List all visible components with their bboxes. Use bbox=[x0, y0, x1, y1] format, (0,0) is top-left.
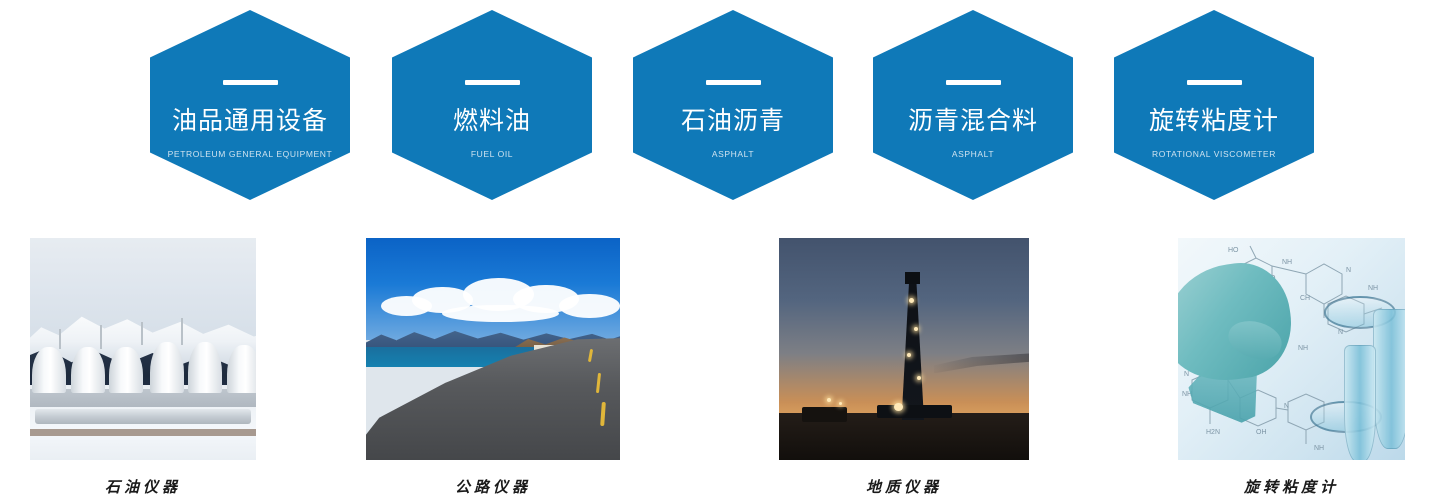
hex-title-en: ASPHALT bbox=[952, 149, 994, 159]
cloud bbox=[442, 305, 559, 323]
svg-text:OH: OH bbox=[1256, 429, 1267, 436]
hex-tile-petroleum-general-equipment[interactable]: 油品通用设备 PETROLEUM GENERAL EQUIPMENT bbox=[150, 10, 350, 200]
hex-title-en: ASPHALT bbox=[712, 149, 754, 159]
test-tube bbox=[1373, 309, 1405, 449]
storage-tank bbox=[32, 347, 66, 394]
card-caption: 旋转粘度计 bbox=[1178, 476, 1405, 497]
photo-lakeside-highway bbox=[366, 238, 620, 460]
vent-stack bbox=[59, 329, 61, 349]
svg-text:NH: NH bbox=[1368, 285, 1378, 292]
hex-tile-fuel-oil[interactable]: 燃料油 FUEL OIL bbox=[392, 10, 592, 200]
pipeline bbox=[35, 409, 252, 425]
card-highway-instrument[interactable]: 公路仪器 bbox=[366, 238, 620, 497]
hex-title-cn: 沥青混合料 bbox=[908, 109, 1038, 134]
photo-drilling-rig-at-dusk bbox=[779, 238, 1029, 460]
svg-text:HO: HO bbox=[1228, 247, 1239, 254]
rig-light bbox=[917, 376, 921, 380]
hex-title-cn: 石油沥青 bbox=[681, 109, 785, 134]
rig-light bbox=[914, 327, 918, 331]
divider-rule bbox=[1187, 80, 1242, 85]
card-geological-instrument[interactable]: 地质仪器 bbox=[779, 238, 1029, 497]
hex-tile-asphalt-mixture[interactable]: 沥青混合料 ASPHALT bbox=[873, 10, 1073, 200]
svg-text:NH: NH bbox=[1282, 259, 1292, 266]
hex-title-cn: 燃料油 bbox=[453, 109, 531, 134]
hex-tile-asphalt[interactable]: 石油沥青 ASPHALT bbox=[633, 10, 833, 200]
hex-title-en: PETROLEUM GENERAL EQUIPMENT bbox=[168, 149, 333, 159]
crown-block bbox=[905, 272, 920, 283]
vent-stack bbox=[181, 318, 183, 345]
hex-title-en: ROTATIONAL VISCOMETER bbox=[1152, 149, 1276, 159]
divider-rule bbox=[465, 80, 520, 85]
hex-title-en: FUEL OIL bbox=[471, 149, 513, 159]
card-caption: 地质仪器 bbox=[779, 476, 1029, 497]
divider-rule bbox=[706, 80, 761, 85]
rig-light bbox=[839, 402, 842, 405]
card-petroleum-instrument[interactable]: 石油仪器 bbox=[30, 238, 256, 497]
sky-layer bbox=[30, 238, 256, 340]
svg-text:NH: NH bbox=[1314, 445, 1324, 452]
category-showcase: 油品通用设备 PETROLEUM GENERAL EQUIPMENT 燃料油 F… bbox=[0, 0, 1440, 500]
divider-rule bbox=[223, 80, 278, 85]
svg-text:H2N: H2N bbox=[1206, 429, 1220, 436]
svg-text:N: N bbox=[1346, 267, 1351, 274]
photo-laboratory-glove-flask: HO NH HO O CH N NH N NH N NH H2N OH NH N bbox=[1178, 238, 1405, 460]
vent-stack bbox=[141, 322, 143, 344]
storage-tank bbox=[188, 342, 222, 393]
card-caption: 公路仪器 bbox=[366, 476, 620, 497]
cloud bbox=[559, 294, 620, 318]
storage-tank bbox=[71, 347, 105, 394]
storage-tank bbox=[227, 345, 256, 394]
vent-stack bbox=[100, 325, 102, 349]
storage-tank bbox=[109, 347, 143, 394]
test-tube bbox=[1344, 345, 1376, 460]
svg-text:CH: CH bbox=[1300, 295, 1310, 302]
storage-tank bbox=[150, 342, 184, 393]
svg-text:N: N bbox=[1338, 329, 1343, 336]
rig-light bbox=[827, 398, 831, 402]
rig-light bbox=[909, 298, 914, 303]
hex-title-cn: 旋转粘度计 bbox=[1149, 109, 1279, 134]
service-truck bbox=[802, 407, 847, 423]
hex-tile-rotational-viscometer[interactable]: 旋转粘度计 ROTATIONAL VISCOMETER bbox=[1114, 10, 1314, 200]
card-rotational-viscometer[interactable]: HO NH HO O CH N NH N NH N NH H2N OH NH N bbox=[1178, 238, 1405, 497]
svg-text:N: N bbox=[1184, 371, 1189, 378]
photo-snowy-mountain-tank-farm bbox=[30, 238, 256, 460]
hex-title-cn: 油品通用设备 bbox=[172, 109, 328, 134]
card-caption: 石油仪器 bbox=[30, 476, 256, 497]
svg-text:NH: NH bbox=[1298, 345, 1308, 352]
rig-platform bbox=[877, 405, 952, 418]
ground-strip bbox=[30, 429, 256, 436]
svg-text:N: N bbox=[1284, 403, 1289, 410]
divider-rule bbox=[946, 80, 1001, 85]
